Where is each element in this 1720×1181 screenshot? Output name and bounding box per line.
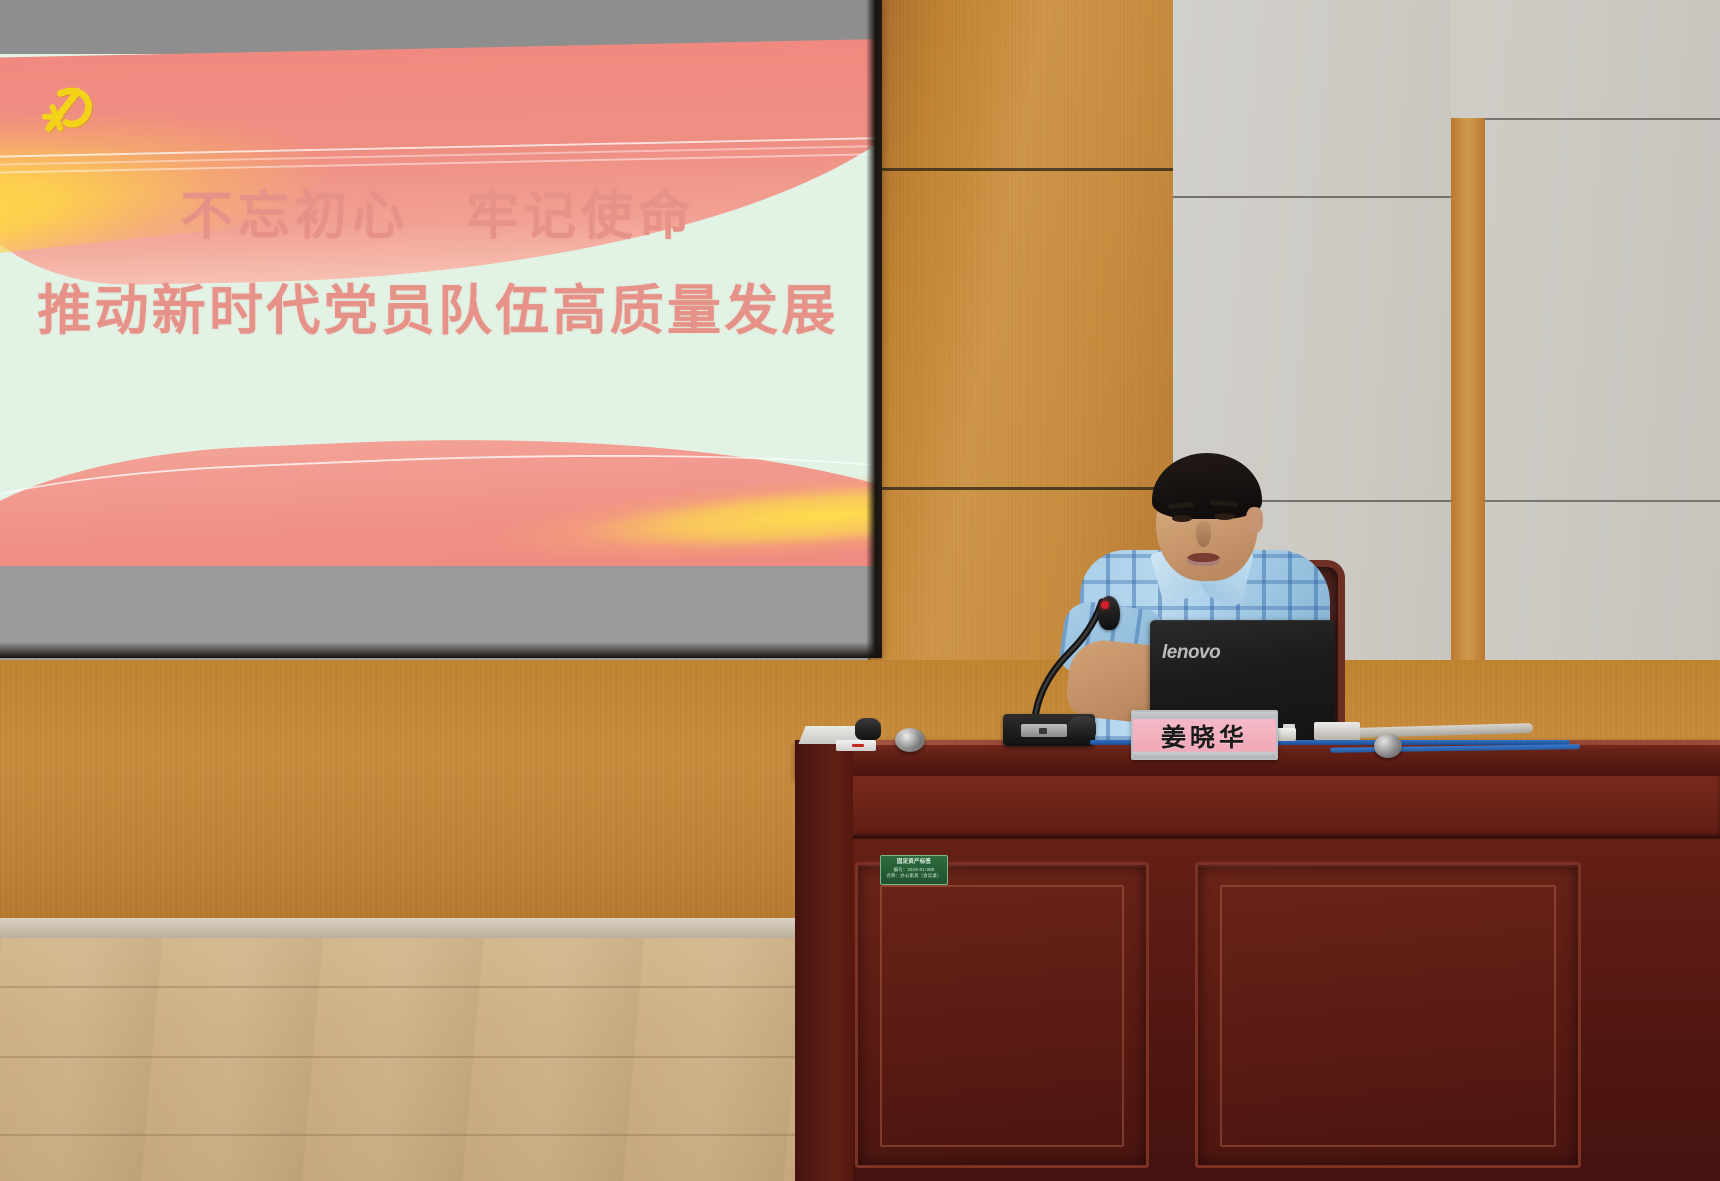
podium-left-edge — [795, 740, 853, 1181]
handheld-microphone-right[interactable] — [1374, 734, 1402, 758]
speaker-nameplate-text: 姜晓华 — [1161, 718, 1248, 754]
screen-right-edge — [866, 0, 882, 658]
wall-gray-panel-right — [1485, 0, 1720, 672]
speaker-hair — [1152, 453, 1262, 519]
podium-apron-seam — [795, 836, 1720, 839]
speaker-eye-right — [1214, 513, 1235, 520]
conference-room-scene: 不忘初心 牢记使命 推动新时代党员队伍高质量发展 — [0, 0, 1720, 1181]
slide-title-line-2: 推动新时代党员队伍高质量发展 — [0, 283, 882, 337]
microphone-active-led — [1101, 601, 1109, 609]
presentation-slide: 不忘初心 牢记使命 推动新时代党员队伍高质量发展 — [0, 0, 882, 658]
remote-red-button[interactable] — [852, 744, 864, 747]
podium-front-panel-left — [855, 862, 1149, 1168]
podium-front-panel-right — [1195, 862, 1581, 1168]
cable-connector-large — [1314, 722, 1360, 740]
speaker-mouth — [1187, 553, 1220, 566]
speaker-ear — [1246, 507, 1263, 533]
microphone-base-button[interactable] — [1039, 728, 1047, 734]
desk-black-device[interactable] — [855, 718, 881, 740]
asset-tag-title: 固定资产标签 — [883, 859, 945, 867]
podium-apron — [795, 776, 1720, 838]
screen-bottom-edge — [0, 642, 882, 658]
asset-tag-label: 固定资产标签 编号：2018-01-088 名称：办公家具（会议桌） — [880, 855, 948, 885]
speaker-nameplate: 姜晓华 — [1131, 710, 1278, 760]
slide-title-line-1: 不忘初心 牢记使命 — [0, 191, 882, 243]
speaker-nose — [1196, 521, 1211, 547]
presenter-remote[interactable] — [836, 740, 876, 751]
slide-title-block: 不忘初心 牢记使命 推动新时代党员队伍高质量发展 — [0, 191, 882, 337]
speaker-eye-left — [1172, 515, 1192, 522]
cpc-party-emblem-icon — [39, 78, 101, 136]
projection-screen: 不忘初心 牢记使命 推动新时代党员队伍高质量发展 — [0, 0, 882, 658]
microphone-base-side-pod — [1068, 716, 1096, 740]
lenovo-logo: lenovo — [1162, 642, 1220, 664]
asset-tag-name: 名称：办公家具（会议桌） — [883, 873, 945, 879]
handheld-microphone-left[interactable] — [895, 728, 925, 752]
wall-wood-accent-strip — [1451, 118, 1485, 672]
